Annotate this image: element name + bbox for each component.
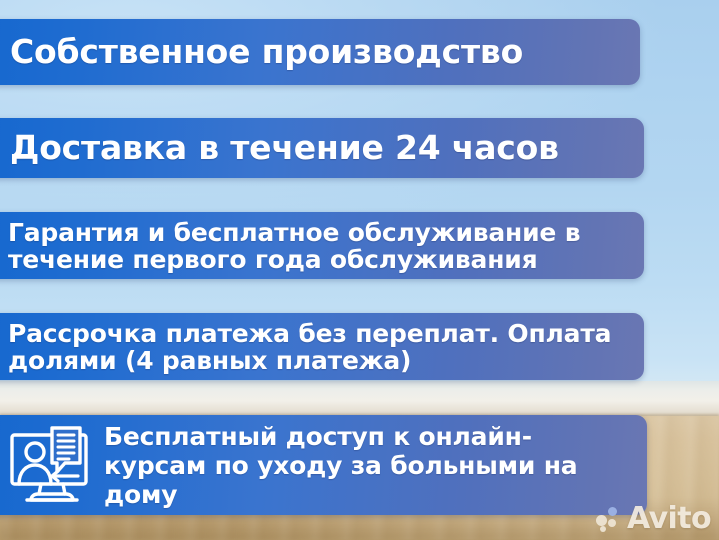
avito-watermark: Avito bbox=[596, 504, 711, 534]
feature-banner-text: Собственное производство bbox=[10, 35, 523, 69]
feature-banner-text: Бесплатный доступ к онлайн- курсам по ух… bbox=[104, 422, 577, 509]
feature-banner-online-courses: Бесплатный доступ к онлайн- курсам по ух… bbox=[0, 415, 647, 515]
monitor-person-document-icon bbox=[6, 422, 98, 508]
feature-banner-text: Доставка в течение 24 часов bbox=[10, 131, 559, 165]
feature-banner-warranty: Гарантия и бесплатное обслуживание в теч… bbox=[0, 212, 644, 279]
feature-banner-text: Гарантия и бесплатное обслуживание в теч… bbox=[8, 219, 580, 273]
feature-banner-own-production: Собственное производство bbox=[0, 19, 640, 85]
feature-banner-text: Рассрочка платежа без переплат. Оплата д… bbox=[8, 320, 611, 374]
advertisement-image: Собственное производство Доставка в тече… bbox=[0, 0, 719, 540]
feature-banner-installments: Рассрочка платежа без переплат. Оплата д… bbox=[0, 313, 644, 380]
avito-dots-logo bbox=[596, 506, 622, 532]
feature-banner-delivery-24h: Доставка в течение 24 часов bbox=[0, 118, 644, 178]
avito-watermark-label: Avito bbox=[627, 504, 711, 534]
